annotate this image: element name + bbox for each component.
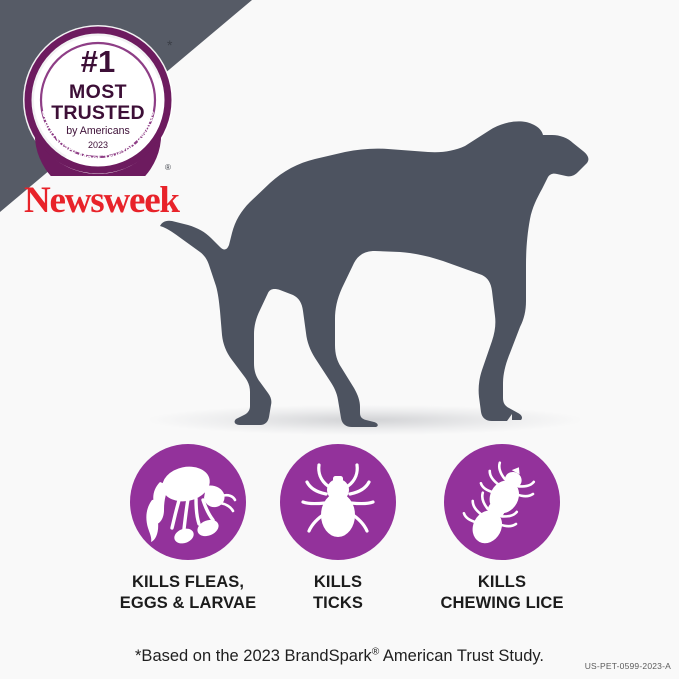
footnote-line-1: *Based on the 2023 BrandSpark® American … bbox=[0, 645, 679, 668]
benefit-ticks-label: KILLS TICKS bbox=[253, 572, 423, 614]
tick-icon bbox=[288, 452, 388, 552]
benefits-row: KILLS FLEAS, EGGS & LARVAE bbox=[0, 444, 679, 604]
benefit-ticks-bubble bbox=[280, 444, 396, 560]
document-code: US-PET-0599-2023-A bbox=[585, 661, 671, 671]
footnote-line-1-suffix: American Trust Study. bbox=[379, 647, 544, 665]
footnote: *Based on the 2023 BrandSpark® American … bbox=[0, 622, 679, 679]
dog-silhouette bbox=[160, 105, 600, 435]
benefit-lice-label: KILLS CHEWING LICE bbox=[417, 572, 587, 614]
benefit-lice-bubble bbox=[444, 444, 560, 560]
benefit-lice[interactable]: KILLS CHEWING LICE bbox=[417, 444, 587, 614]
badge-line-1: MOST bbox=[69, 81, 127, 103]
badge-line-2: TRUSTED bbox=[51, 102, 144, 124]
badge-year: 2023 bbox=[88, 140, 108, 150]
benefit-fleas-label: KILLS FLEAS, EGGS & LARVAE bbox=[103, 572, 273, 614]
badge-attribution: by Americans bbox=[66, 125, 130, 137]
benefit-fleas[interactable]: KILLS FLEAS, EGGS & LARVAE bbox=[103, 444, 273, 614]
chewing-lice-icon bbox=[452, 452, 552, 552]
badge-rank: #1 bbox=[81, 44, 115, 79]
benefit-fleas-bubble bbox=[130, 444, 246, 560]
product-claim-panel: BrandSpark Most Trusted Awards #1 MOST T… bbox=[0, 0, 679, 679]
most-trusted-badge: BrandSpark Most Trusted Awards #1 MOST T… bbox=[22, 24, 174, 176]
badge-asterisk: * bbox=[167, 38, 172, 52]
benefit-ticks[interactable]: KILLS TICKS bbox=[253, 444, 423, 614]
footnote-line-1-prefix: *Based on the 2023 BrandSpark bbox=[135, 647, 372, 665]
flea-eggs-larvae-icon bbox=[138, 452, 238, 552]
